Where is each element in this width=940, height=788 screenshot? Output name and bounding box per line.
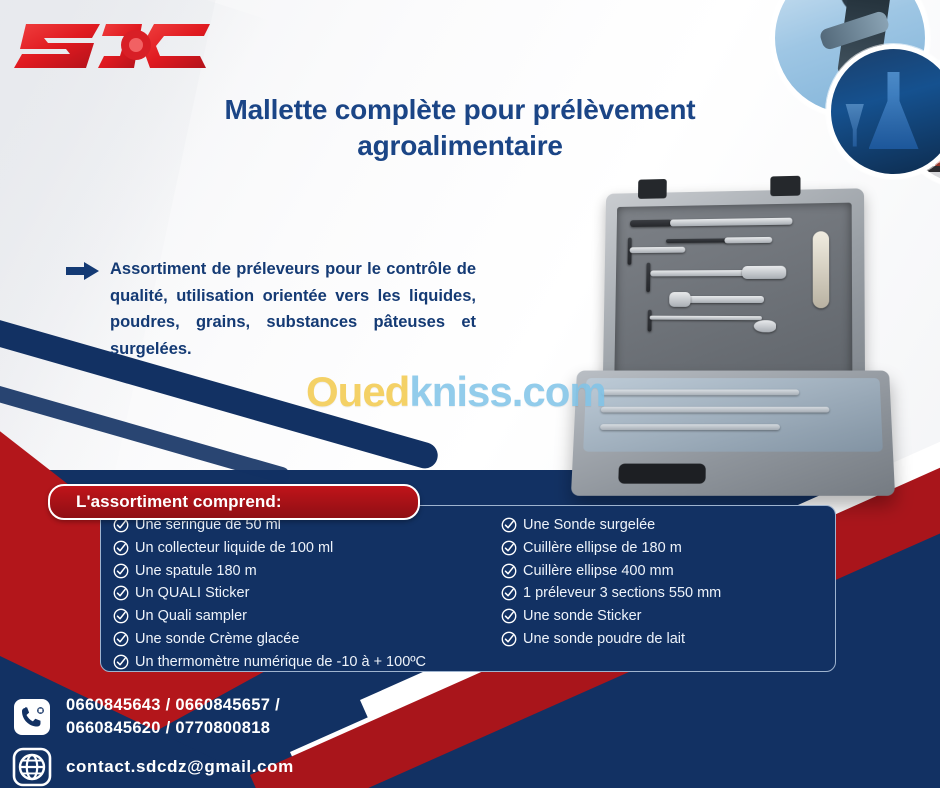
case-base — [571, 371, 895, 496]
assortment-column-right: Une Sonde surgeléeCuillère ellipse de 18… — [501, 506, 831, 671]
assortment-list-item: Cuillère ellipse de 180 m — [501, 538, 831, 560]
assortment-list-item: Un Quali sampler — [113, 606, 501, 628]
check-circle-icon — [113, 563, 129, 579]
check-circle-icon — [501, 608, 517, 624]
assortment-banner-label: L'assortiment comprend: — [50, 492, 282, 512]
phone-icon — [12, 697, 52, 737]
assortment-list-item: Une spatule 180 m — [113, 561, 501, 583]
tool-handle-2 — [646, 263, 650, 292]
assortment-item-label: Une Sonde surgelée — [523, 515, 655, 537]
assortment-list-item: Une sonde Crème glacée — [113, 629, 501, 651]
tool-thermometer — [813, 231, 830, 308]
assortment-item-label: Cuillère ellipse de 180 m — [523, 538, 682, 560]
assortment-list-item: Une Sonde surgelée — [501, 515, 831, 537]
tool-probe-2 — [666, 238, 728, 243]
assortment-item-label: Une sonde Crème glacée — [135, 629, 299, 651]
case-foam-insert — [614, 203, 852, 393]
assortment-list-box: Une seringue de 50 mlUn collecteur liqui… — [100, 505, 836, 672]
assortment-item-label: Une spatule 180 m — [135, 561, 257, 583]
assortment-list-item: Un QUALI Sticker — [113, 583, 501, 605]
tool-probe-1b — [670, 218, 792, 227]
check-circle-icon — [113, 585, 129, 601]
assortment-list-item: 1 préleveur 3 sections 550 mm — [501, 583, 831, 605]
description-block: Assortiment de préleveurs pour le contrô… — [64, 256, 476, 363]
case-base-tray — [583, 378, 883, 452]
assortment-item-label: Un QUALI Sticker — [135, 583, 249, 605]
check-circle-icon — [113, 654, 129, 670]
tool-probe-3 — [630, 247, 686, 253]
assortment-list-item: Une sonde Sticker — [501, 606, 831, 628]
check-circle-icon — [113, 608, 129, 624]
ouedkniss-watermark: Ouedkniss.com — [306, 368, 606, 416]
watermark-part-2: kniss.com — [409, 368, 605, 415]
check-circle-icon — [501, 563, 517, 579]
assortment-banner: L'assortiment comprend: — [48, 484, 420, 520]
phone-line-2: 0660845620 / 0770800818 — [66, 717, 280, 740]
case-latch-left — [638, 179, 667, 199]
case-handle — [618, 464, 706, 484]
check-circle-icon — [501, 585, 517, 601]
assortment-item-label: Un collecteur liquide de 100 ml — [135, 538, 333, 560]
check-circle-icon — [113, 631, 129, 647]
page-title: Mallette complète pour prélèvement agroa… — [180, 92, 740, 163]
tool-probe-1 — [630, 220, 672, 227]
tool-syringe — [742, 266, 786, 279]
poster-canvas: Mallette complète pour prélèvement agroa… — [0, 0, 940, 788]
tool-probe-6 — [650, 316, 762, 320]
phone-line-1: 0660845643 / 0660845657 / — [66, 694, 280, 717]
assortment-column-left: Une seringue de 50 mlUn collecteur liqui… — [101, 506, 501, 671]
assortment-list-item: Un collecteur liquide de 100 ml — [113, 538, 501, 560]
contact-block: 0660845643 / 0660845657 / 0660845620 / 0… — [12, 694, 294, 788]
tool-probe-2b — [724, 237, 772, 243]
tool-handle-3 — [648, 310, 652, 332]
arrow-right-icon — [66, 262, 100, 280]
contact-email-text: contact.sdcdz@gmail.com — [66, 755, 294, 779]
tool-stored-3 — [600, 424, 780, 430]
assortment-item-label: Un thermomètre numérique de -10 à + 100º… — [135, 652, 426, 674]
title-line-1: Mallette complète pour prélèvement — [180, 92, 740, 128]
contact-phone-text: 0660845643 / 0660845657 / 0660845620 / 0… — [66, 694, 280, 741]
assortment-list-item: Un thermomètre numérique de -10 à + 100º… — [113, 652, 501, 674]
sdc-logo — [14, 10, 214, 82]
check-circle-icon — [113, 540, 129, 556]
tool-stored-2 — [601, 407, 830, 413]
assortment-item-label: Un Quali sampler — [135, 606, 247, 628]
assortment-item-label: Cuillère ellipse 400 mm — [523, 561, 674, 583]
globe-icon — [12, 747, 52, 787]
watermark-part-1: Oued — [306, 368, 409, 415]
case-latch-right — [770, 176, 800, 196]
contact-phone-row[interactable]: 0660845643 / 0660845657 / 0660845620 / 0… — [12, 694, 294, 741]
assortment-item-label: 1 préleveur 3 sections 550 mm — [523, 583, 721, 605]
check-circle-icon — [501, 517, 517, 533]
assortment-item-label: Une sonde Sticker — [523, 606, 641, 628]
description-text: Assortiment de préleveurs pour le contrô… — [64, 256, 476, 363]
title-line-2: agroalimentaire — [180, 128, 740, 164]
tool-stored-1 — [601, 390, 799, 396]
assortment-list-item: Une sonde poudre de lait — [501, 629, 831, 651]
tool-collector — [669, 292, 691, 307]
assortment-list-item: Cuillère ellipse 400 mm — [501, 561, 831, 583]
product-photo — [578, 172, 940, 502]
check-circle-icon — [501, 540, 517, 556]
assortment-item-label: Une sonde poudre de lait — [523, 629, 685, 651]
contact-email-row[interactable]: contact.sdcdz@gmail.com — [12, 747, 294, 787]
tool-spoon — [754, 320, 776, 332]
check-circle-icon — [501, 631, 517, 647]
